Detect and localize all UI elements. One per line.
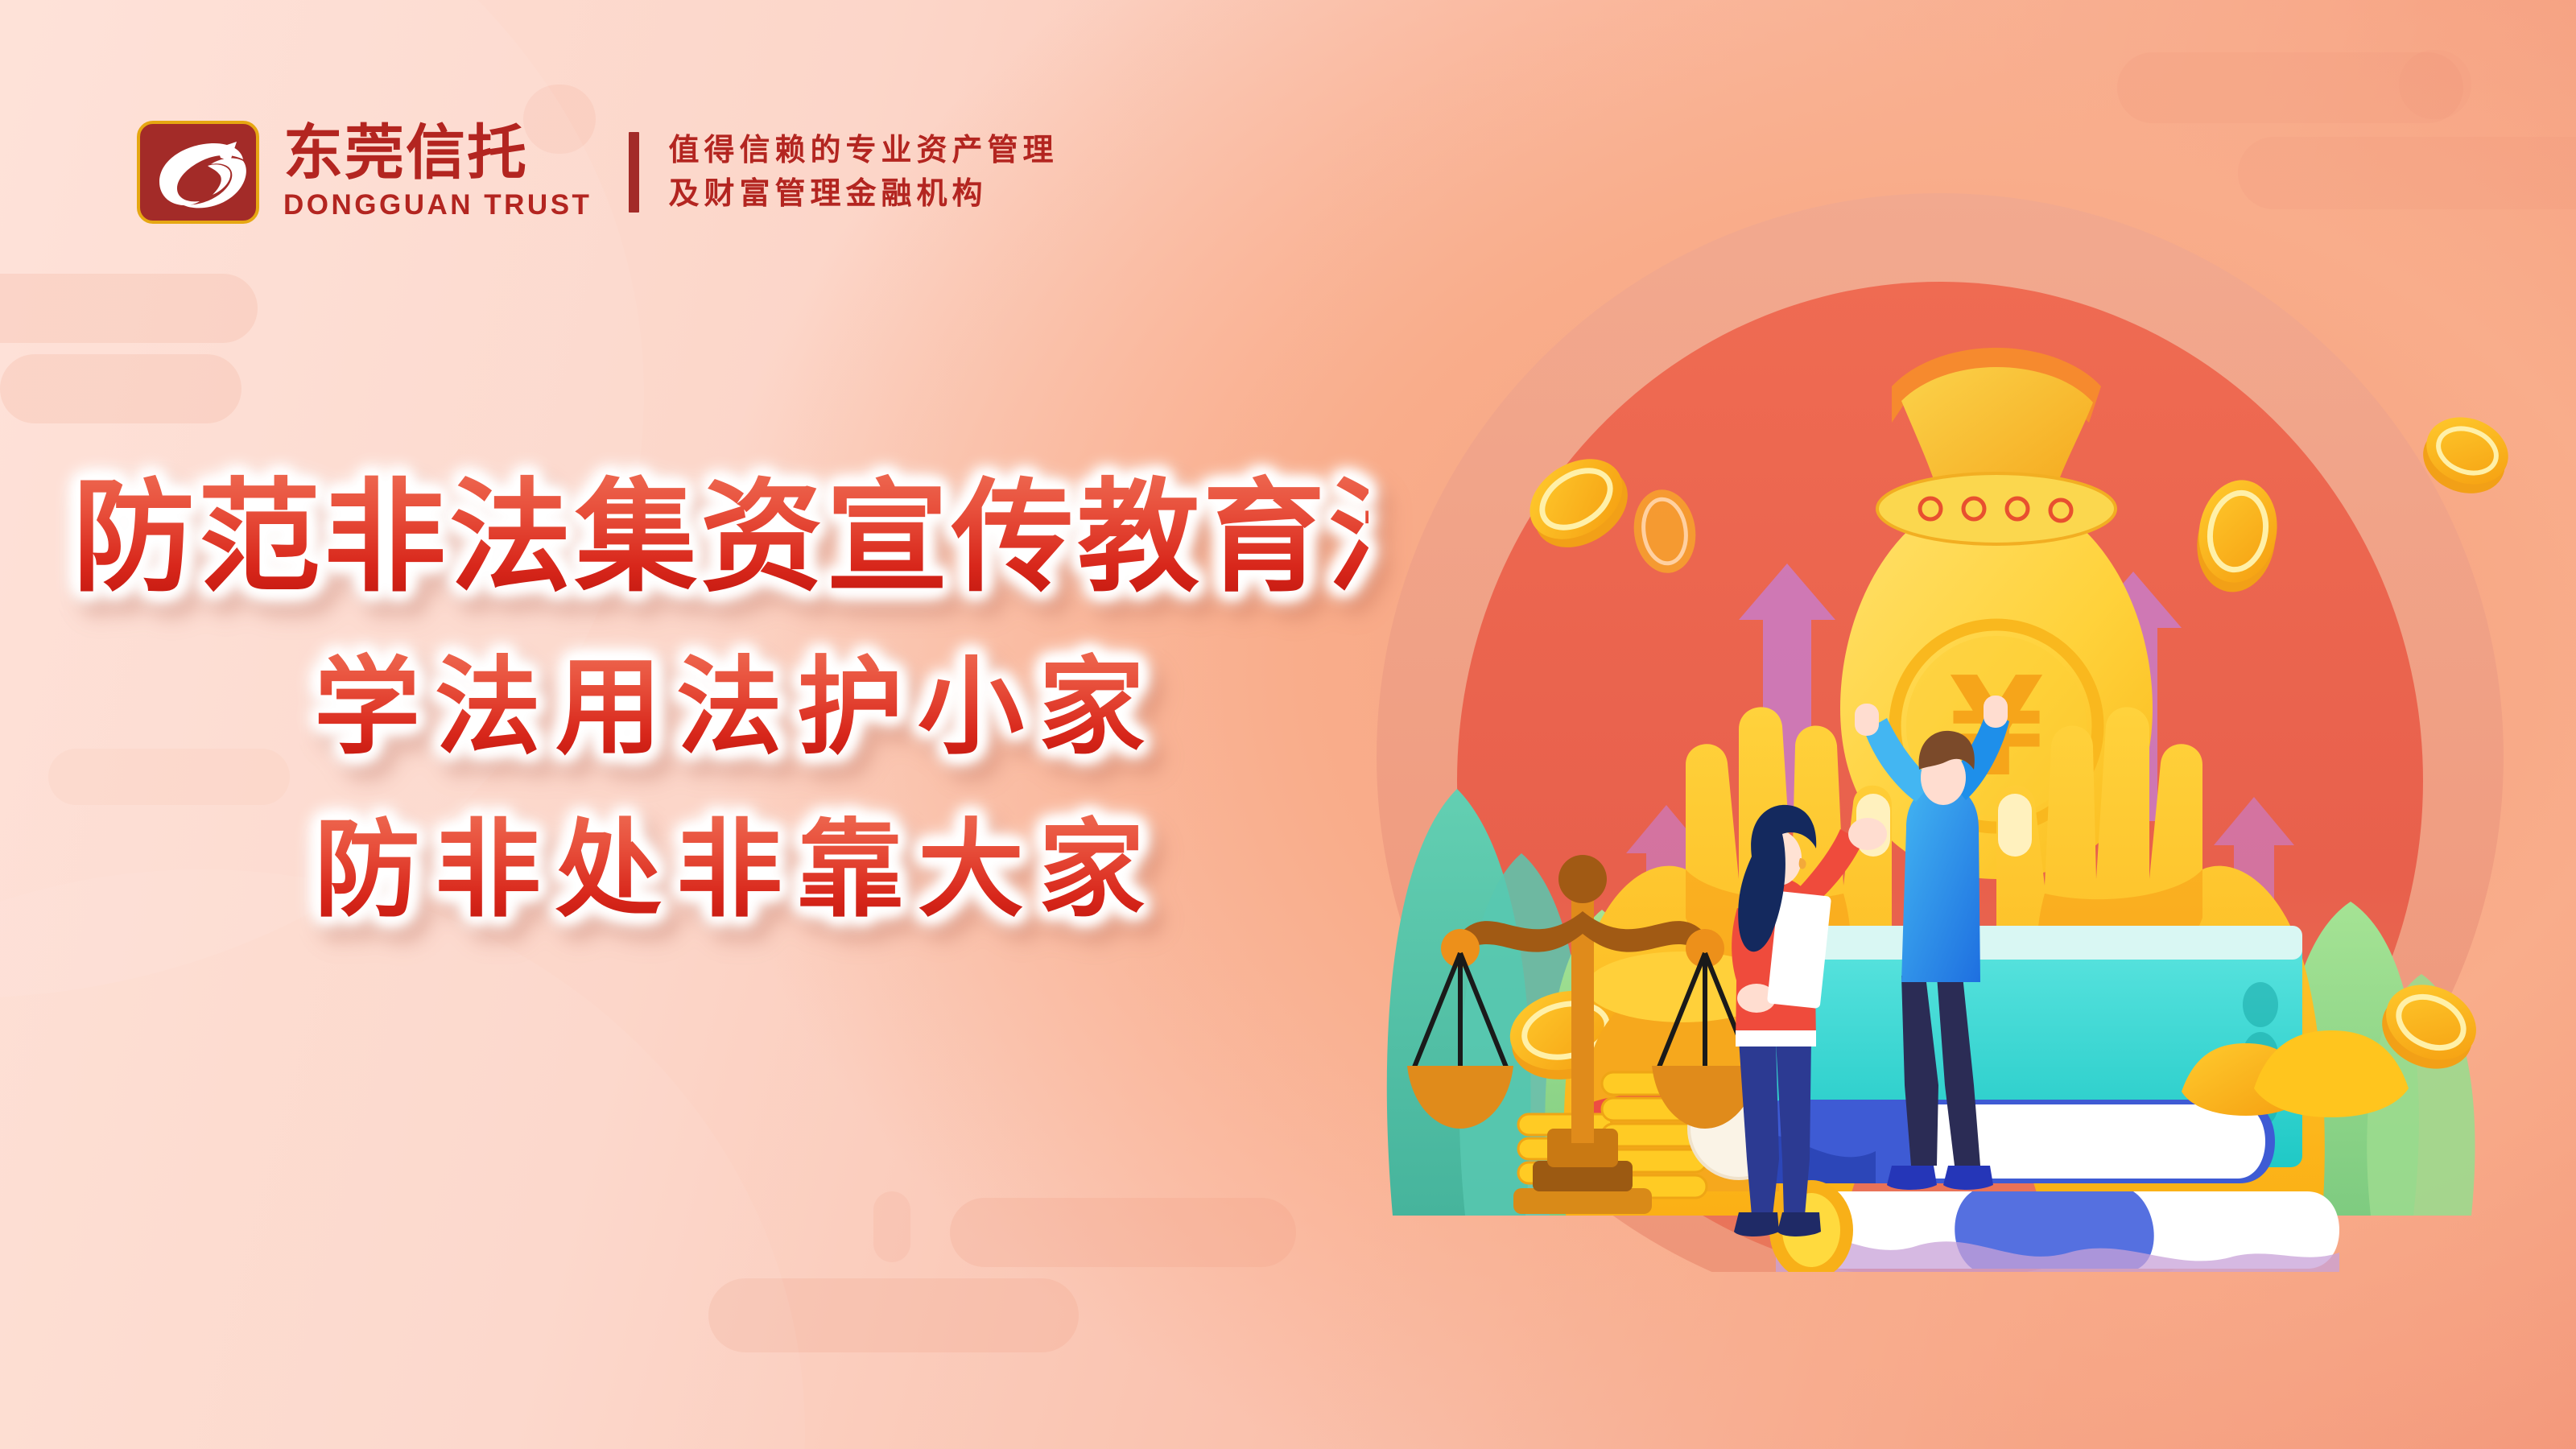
slogan-line-2: 及财富管理金融机构 [668, 172, 1058, 216]
book-blue-top [1752, 1100, 2275, 1183]
book-white-bottom [1769, 1180, 2339, 1272]
brand-header: 东莞信托 DONGGUAN TRUST 值得信赖的专业资产管理 及财富管理金融机… [137, 121, 1058, 224]
brand-name-en: DONGGUAN TRUST [283, 189, 592, 221]
brand-wordmark: 东莞信托 DONGGUAN TRUST [283, 123, 592, 221]
dongguan-trust-logo-icon [137, 121, 259, 224]
decor-pill [873, 1191, 910, 1262]
slogan-line-1: 值得信赖的专业资产管理 [668, 129, 1058, 172]
man-shoe-left [1887, 1166, 1937, 1190]
woman-shoe-left [1734, 1212, 1779, 1236]
headline-secondary: 学法用法护小家 [314, 646, 1368, 771]
poster-canvas: 东莞信托 DONGGUAN TRUST 值得信赖的专业资产管理 及财富管理金融机… [0, 0, 2576, 1449]
woman-shoe-right [1777, 1212, 1821, 1236]
headline-primary: 防范非法集资宣传教育活动 [72, 467, 1368, 609]
header-divider [629, 132, 639, 213]
man-torso [1901, 784, 1980, 982]
thumb-nail [1998, 794, 2032, 857]
money-bag-in-hands-illustration: ¥ [1360, 145, 2528, 1272]
man-shoe-right [1943, 1166, 1993, 1190]
decor-pill [950, 1198, 1296, 1267]
brand-name-cn: 东莞信托 [283, 123, 592, 183]
headline-block: 防范非法集资宣传教育活动 学法用法护小家 防非处非靠大家 [0, 467, 1368, 934]
decor-pill [2399, 50, 2471, 119]
decor-arc [0, 869, 805, 1449]
brand-slogan: 值得信赖的专业资产管理 及财富管理金融机构 [668, 129, 1058, 216]
headline-tertiary: 防非处非靠大家 [314, 808, 1368, 934]
